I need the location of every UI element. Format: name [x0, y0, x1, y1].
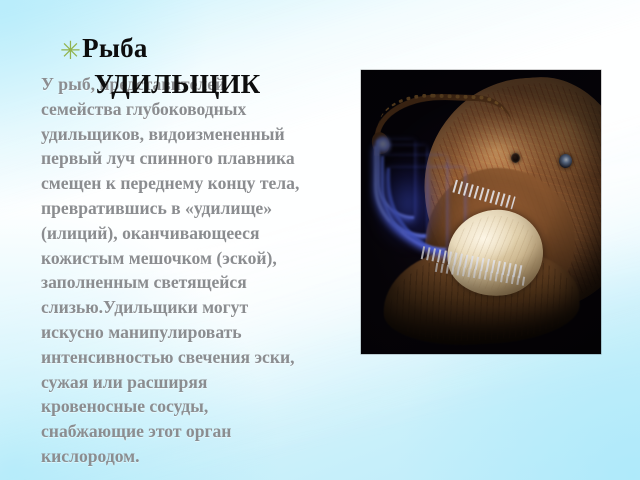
slide-body-text: У рыб, представителей семейства глубоков…	[41, 72, 309, 469]
title-line-1: ✳Рыба	[60, 33, 335, 67]
fish-eye-near	[559, 154, 572, 168]
title-text-secondary: УДИЛЬЩИК	[60, 69, 335, 100]
presentation-slide: У рыб, представителей семейства глубоков…	[0, 0, 640, 480]
title-text-primary: Рыба	[82, 33, 147, 63]
esca-core-light	[375, 136, 391, 156]
anglerfish-photo	[361, 70, 601, 354]
fish-eye-far	[511, 153, 520, 163]
slide-title: ✳Рыба УДИЛЬЩИК	[60, 33, 335, 100]
asterisk-bullet-icon: ✳	[60, 38, 81, 65]
